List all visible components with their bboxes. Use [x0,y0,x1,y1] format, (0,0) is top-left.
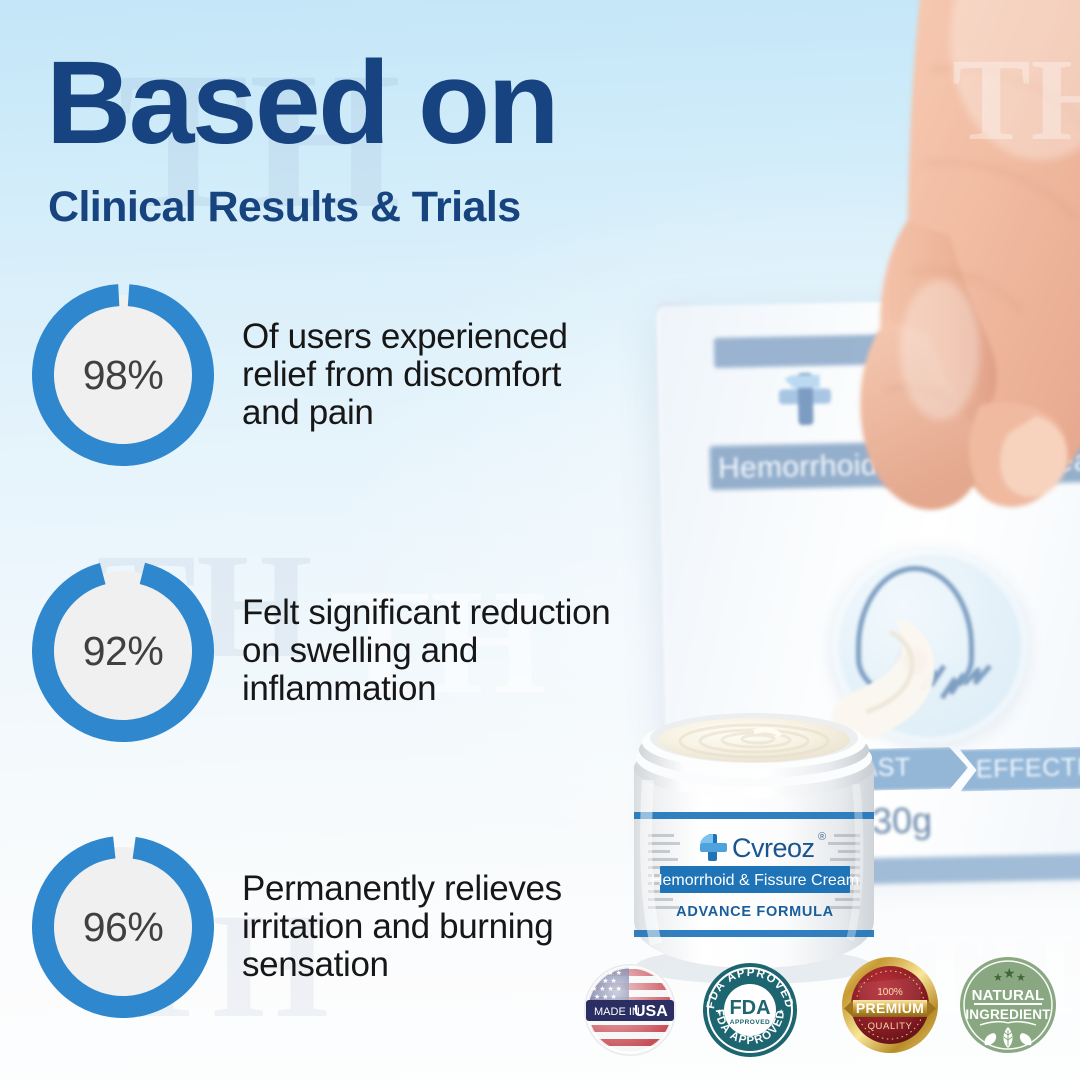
stat-description: Felt significant reduction on swelling a… [242,594,610,708]
svg-text:★: ★ [1016,972,1026,984]
stat-percent-label: 98% [32,284,214,466]
badge-made-in-usa: ★ ★ ★ ★★ ★ ★ ★ ★ ★ ★★ ★ ★ MADE IN USA [580,960,680,1060]
product-jar: Cvreoz ® Hemorrhoid & Fissure Cream ADVA… [604,694,904,984]
stat-percent-label: 96% [32,836,214,1018]
banner-fast-label: FAST [846,753,912,783]
stat-line: and pain [242,394,568,432]
stat-description: Permanently relieves irritation and burn… [242,870,562,984]
page-title: Based on [46,44,557,162]
stat-description: Of users experienced relief from discomf… [242,318,568,432]
stat-line: on swelling and [242,632,610,670]
svg-text:★: ★ [1003,965,1016,981]
stat-line: irritation and burning [242,908,562,946]
svg-text:®: ® [818,831,826,843]
watermark-top-right: TH [952,32,1080,168]
badge-premium-line1: 100% [877,987,903,998]
badge-natural-line1: NATURAL [972,987,1045,1004]
hand-photo [790,0,1080,680]
carton-product-name: Hemorrhoid & Fissure Cream [718,444,1080,486]
stat-line: Of users experienced [242,318,568,356]
diagram-anatomy-arc-icon [856,566,974,700]
badge-premium-line2: PREMIUM [856,1000,924,1016]
page-subtitle: Clinical Results & Trials [48,186,521,229]
carton-top-bar [714,330,1080,368]
stat-row: 98% Of users experienced relief from dis… [32,284,568,466]
stat-percent-label: 92% [32,560,214,742]
badge-premium-quality: 100% PREMIUM QUALITY [840,955,940,1055]
stat-line: Permanently relieves [242,870,562,908]
badge-usa-line2: USA [634,1003,668,1020]
stat-line: inflammation [242,670,610,708]
donut-chart-96: 96% [32,836,214,1018]
product-carton-spine [656,302,702,863]
infographic-canvas: Hemorrhoid & Fissure Cream FAST EFFECTIV… [0,0,1080,1080]
banner-effective-label: EFFECTIVE [976,753,1080,785]
svg-text:Hemorrhoid & Fissure Cream: Hemorrhoid & Fissure Cream [651,872,859,889]
svg-text:★: ★ [778,1008,784,1016]
badge-natural-line2: INGREDIENT [965,1007,1051,1022]
badge-fda-center-sub: APPROVED [730,1019,770,1026]
stat-line: relief from discomfort [242,356,568,394]
donut-chart-92: 92% [32,560,214,742]
svg-text:★: ★ [993,972,1003,984]
badge-fda-center: FDA [729,997,770,1019]
svg-text:★: ★ [716,1008,722,1016]
badge-fda-approved: FDA APPROVED FDA APPROVED FDA APPROVED ★… [700,960,800,1060]
svg-text:ADVANCE FORMULA: ADVANCE FORMULA [676,904,834,920]
diagram-pain-point-icon [902,648,928,674]
donut-chart-98: 98% [32,284,214,466]
carton-size-label: 30g [872,799,933,842]
carton-name-bar [710,438,1080,490]
stat-row: 96% Permanently relieves irritation and … [32,836,562,1018]
stat-row: 92% Felt significant reduction on swelli… [32,560,610,742]
diagram-pain-bolts-icon [916,650,1006,720]
cream-smear [818,614,968,764]
carton-bottom-bar [846,853,1080,884]
badge-usa-line1: MADE IN [594,1006,640,1018]
medical-diagram-circle [832,548,1028,744]
badge-premium-line3: QUALITY [868,1021,913,1032]
badge-natural-ingredient: ★ ★ ★ NATURAL INGREDIENT [958,955,1058,1055]
carton-cross-logo-icon [778,372,831,425]
svg-text:Cvreoz: Cvreoz [732,833,815,863]
stat-line: sensation [242,946,562,984]
stat-line: Felt significant reduction [242,594,610,632]
